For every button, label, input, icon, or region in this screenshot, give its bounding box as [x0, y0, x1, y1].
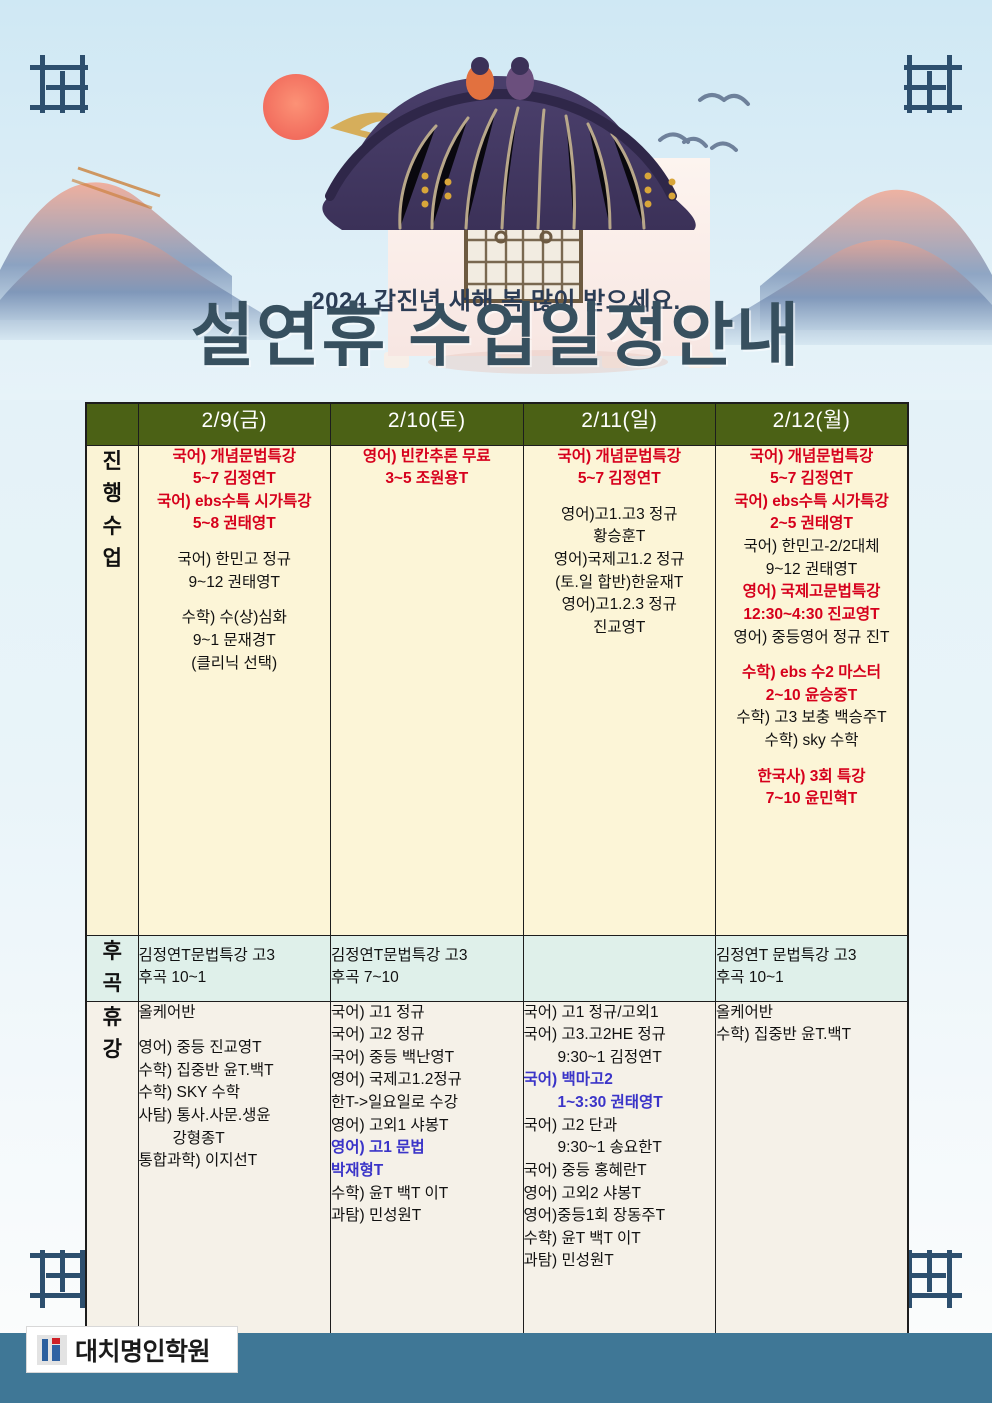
schedule-row-jinhaeng: 진행수업국어) 개념문법특강5~7 김정연T국어) ebs수특 시가특강5~8 … — [86, 445, 908, 935]
schedule-entry-line: (클리닉 선택) — [143, 653, 327, 676]
schedule-entry-line: 3~5 조원용T — [335, 468, 519, 491]
schedule-entry-line: 황승훈T — [528, 526, 712, 549]
row-label-char: 휴 — [87, 1002, 138, 1035]
schedule-cell-jinhaeng-day1: 국어) 개념문법특강5~7 김정연T국어) ebs수특 시가특강5~8 권태영T… — [138, 445, 331, 935]
schedule-cell-hyugang-day2: 국어) 고1 정규국어) 고2 정규국어) 중등 백난영T영어) 국제고1.2정… — [331, 1001, 524, 1341]
schedule-cell-hugok-day2: 김정연T문법특강 고3후곡 7~10 — [331, 935, 524, 1001]
schedule-entry-line: 국어) 개념문법특강 — [528, 446, 712, 469]
schedule-entry-line: 9~12 권태영T — [720, 559, 903, 582]
schedule-entry-line: 국어) 중등 백난영T — [331, 1047, 523, 1070]
schedule-cell-hyugang-day4: 올케어반수학) 집중반 윤T.백T — [716, 1001, 909, 1341]
spacer — [528, 491, 712, 504]
schedule-entry-line: 국어) 고1 정규/고외1 — [524, 1002, 716, 1025]
schedule-entry-line: 수학) ebs 수2 마스터 — [720, 662, 903, 685]
spacer — [720, 753, 903, 766]
schedule-entry-line: 영어) 중등 진교영T — [139, 1037, 331, 1060]
column-header-day-3: 2/11(일) — [523, 403, 716, 445]
schedule-entry-line: 사탐) 통사.사문.생윤 — [139, 1105, 331, 1128]
column-header-day-1: 2/9(금) — [138, 403, 331, 445]
brand-logo: 대치명인학원 — [26, 1326, 238, 1373]
schedule-table-head: 2/9(금) 2/10(토) 2/11(일) 2/12(월) — [86, 403, 908, 445]
schedule-entry-line: 영어) 빈칸추론 무료 — [335, 446, 519, 469]
spacer — [139, 1024, 331, 1037]
schedule-cell-hyugang-day1: 올케어반영어) 중등 진교영T수학) 집중반 윤T.백T수학) SKY 수학사탐… — [138, 1001, 331, 1341]
schedule-entry-line: 과탐) 민성원T — [331, 1205, 523, 1228]
schedule-cell-jinhaeng-day4: 국어) 개념문법특강5~7 김정연T국어) ebs수특 시가특강2~5 권태영T… — [716, 445, 909, 935]
row-label-char: 업 — [87, 543, 138, 576]
schedule-entry-line: 통합과학) 이지선T — [139, 1150, 331, 1173]
schedule-entry-line: 강형종T — [139, 1128, 331, 1151]
schedule-entry-line: 후곡 10~1 — [139, 967, 331, 990]
column-header-day-4: 2/12(월) — [716, 403, 909, 445]
schedule-entry-line: 올케어반 — [139, 1002, 331, 1025]
schedule-entry-line: 수학) 고3 보충 백승주T — [720, 707, 903, 730]
schedule-entry-line: 5~8 권태영T — [143, 513, 327, 536]
table-header-row: 2/9(금) 2/10(토) 2/11(일) 2/12(월) — [86, 403, 908, 445]
schedule-cell-hugok-day1: 김정연T문법특강 고3후곡 10~1 — [138, 935, 331, 1001]
schedule-entry-line: 후곡 7~10 — [331, 967, 523, 990]
schedule-entry-line: 국어) 한민고-2/2대체 — [720, 536, 903, 559]
schedule-entry-line: 국어) 고2 단과 — [524, 1115, 716, 1138]
schedule-entry-line: 9~12 권태영T — [143, 572, 327, 595]
schedule-entry-line: 국어) 백마고2 — [524, 1069, 716, 1092]
column-header-day-2: 2/10(토) — [331, 403, 524, 445]
schedule-entry-line: 5~7 김정연T — [720, 468, 903, 491]
schedule-entry-line: 영어)고1.2.3 정규 — [528, 594, 712, 617]
schedule-entry-line: 5~7 김정연T — [528, 468, 712, 491]
spacer — [143, 536, 327, 549]
schedule-entry-line: 수학) sky 수학 — [720, 730, 903, 753]
schedule-entry-line: 국어) 중등 홍혜란T — [524, 1160, 716, 1183]
schedule-cell-jinhaeng-day2: 영어) 빈칸추론 무료3~5 조원용T — [331, 445, 524, 935]
schedule-entry-line: 영어) 고외2 샤봉T — [524, 1183, 716, 1206]
schedule-entry-line: 수학) SKY 수학 — [139, 1082, 331, 1105]
schedule-entry-line: 김정연T 문법특강 고3 — [716, 945, 907, 968]
schedule-entry-line: 국어) 개념문법특강 — [720, 446, 903, 469]
spacer — [720, 649, 903, 662]
schedule-row-hyugang: 휴강올케어반영어) 중등 진교영T수학) 집중반 윤T.백T수학) SKY 수학… — [86, 1001, 908, 1341]
row-label-char: 수 — [87, 511, 138, 544]
schedule-entry-line: 2~5 권태영T — [720, 513, 903, 536]
schedule-entry-line: 김정연T문법특강 고3 — [139, 945, 331, 968]
schedule-cell-hugok-day3 — [523, 935, 716, 1001]
schedule-entry-line: 국어) 한민고 정규 — [143, 549, 327, 572]
schedule-entry-line: 국어) ebs수특 시가특강 — [143, 491, 327, 514]
row-label-char: 진 — [87, 446, 138, 479]
poster-root: 2024 갑진년 새해 복 많이 받으세요. 설연휴 수업일정안내 2/9(금)… — [0, 0, 992, 1403]
row-label-char: 곡 — [87, 968, 138, 1001]
schedule-entry-line: 9:30~1 김정연T — [524, 1047, 716, 1070]
schedule-table-container: 2/9(금) 2/10(토) 2/11(일) 2/12(월) 진행수업국어) 개… — [85, 402, 907, 1342]
brand-name-label: 대치명인학원 — [75, 1332, 210, 1368]
schedule-entry-line: 수학) 윤T 백T 이T — [331, 1183, 523, 1206]
schedule-entry-line: 과탐) 민성원T — [524, 1250, 716, 1273]
schedule-entry-line: 후곡 10~1 — [716, 967, 907, 990]
schedule-entry-line: 영어) 국제고1.2정규 — [331, 1069, 523, 1092]
schedule-entry-line: 영어)고1.고3 정규 — [528, 504, 712, 527]
academy-logo-icon — [37, 1335, 67, 1365]
schedule-entry-line: 박재형T — [331, 1160, 523, 1183]
schedule-entry-line: 영어) 고1 문법 — [331, 1137, 523, 1160]
schedule-entry-line: 국어) 고1 정규 — [331, 1002, 523, 1025]
row-label-char: 행 — [87, 478, 138, 511]
schedule-cell-hugok-day4: 김정연T 문법특강 고3후곡 10~1 — [716, 935, 909, 1001]
schedule-entry-line: 9:30~1 송요한T — [524, 1137, 716, 1160]
schedule-cell-hyugang-day3: 국어) 고1 정규/고외1국어) 고3.고2HE 정규9:30~1 김정연T국어… — [523, 1001, 716, 1341]
schedule-row-hugok: 후곡김정연T문법특강 고3후곡 10~1김정연T문법특강 고3후곡 7~10김정… — [86, 935, 908, 1001]
schedule-entry-line: 국어) 개념문법특강 — [143, 446, 327, 469]
schedule-entry-line: 2~10 윤승중T — [720, 685, 903, 708]
schedule-entry-line: 영어) 중등영어 정규 진T — [720, 627, 903, 650]
schedule-entry-line: 수학) 윤T 백T 이T — [524, 1228, 716, 1251]
row-label-hugok: 후곡 — [86, 935, 138, 1001]
schedule-entry-line: 수학) 집중반 윤T.백T — [139, 1060, 331, 1083]
header-corner-blank — [86, 403, 138, 445]
schedule-entry-line: 영어)국제고1.2 정규 — [528, 549, 712, 572]
schedule-entry-line: 올케어반 — [716, 1002, 907, 1025]
schedule-entry-line: (토.일 합반)한윤재T — [528, 572, 712, 595]
schedule-entry-line: 한국사) 3회 특강 — [720, 766, 903, 789]
schedule-entry-line: 한T->일요일로 수강 — [331, 1092, 523, 1115]
schedule-entry-line: 1~3:30 권태영T — [524, 1092, 716, 1115]
schedule-entry-line: 김정연T문법특강 고3 — [331, 945, 523, 968]
row-label-char: 강 — [87, 1034, 138, 1067]
row-label-hyugang: 휴강 — [86, 1001, 138, 1341]
schedule-table: 2/9(금) 2/10(토) 2/11(일) 2/12(월) 진행수업국어) 개… — [85, 402, 909, 1342]
schedule-entry-line: 9~1 문재경T — [143, 630, 327, 653]
page-title: 설연휴 수업일정안내 — [0, 300, 992, 372]
schedule-entry-line: 5~7 김정연T — [143, 468, 327, 491]
schedule-entry-line: 진교영T — [528, 617, 712, 640]
schedule-entry-line: 영어) 국제고문법특강 — [720, 581, 903, 604]
schedule-cell-jinhaeng-day3: 국어) 개념문법특강5~7 김정연T영어)고1.고3 정규황승훈T영어)국제고1… — [523, 445, 716, 935]
row-label-jinhaeng: 진행수업 — [86, 445, 138, 935]
schedule-entry-line: 국어) 고3.고2HE 정규 — [524, 1024, 716, 1047]
spacer — [143, 594, 327, 607]
schedule-entry-line: 7~10 윤민혁T — [720, 788, 903, 811]
schedule-table-body: 진행수업국어) 개념문법특강5~7 김정연T국어) ebs수특 시가특강5~8 … — [86, 445, 908, 1341]
row-label-char: 후 — [87, 936, 138, 969]
schedule-entry-line: 영어)중등1회 장동주T — [524, 1205, 716, 1228]
schedule-entry-line: 영어) 고외1 샤봉T — [331, 1115, 523, 1138]
schedule-entry-line: 수학) 수(상)심화 — [143, 607, 327, 630]
schedule-entry-line: 국어) 고2 정규 — [331, 1024, 523, 1047]
schedule-entry-line: 수학) 집중반 윤T.백T — [716, 1024, 907, 1047]
schedule-entry-line: 12:30~4:30 진교영T — [720, 604, 903, 627]
schedule-entry-line: 국어) ebs수특 시가특강 — [720, 491, 903, 514]
